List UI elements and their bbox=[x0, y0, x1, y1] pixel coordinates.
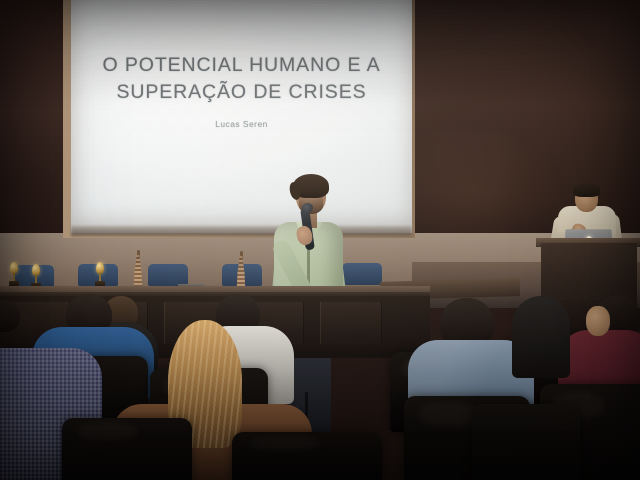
stage-chair-3 bbox=[148, 264, 188, 286]
operator-hair bbox=[573, 183, 600, 197]
stage-chair-5 bbox=[342, 263, 382, 285]
a10-shoulders bbox=[512, 296, 570, 378]
presentation-slide: O POTENCIAL HUMANO E A SUPERAÇÃO DE CRIS… bbox=[71, 0, 412, 233]
audience-chair-1 bbox=[62, 418, 192, 480]
a9-hand-on-face bbox=[586, 306, 610, 336]
slide-title-line-1: O POTENCIAL HUMANO E A bbox=[87, 52, 397, 79]
slide-title-line-2: SUPERAÇÃO DE CRISES bbox=[87, 79, 397, 106]
audience-chair-4 bbox=[232, 432, 382, 480]
slide-author: Lucas Seren bbox=[215, 119, 268, 129]
screenshot-canvas: O POTENCIAL HUMANO E A SUPERAÇÃO DE CRIS… bbox=[0, 0, 640, 480]
audience-chair-9 bbox=[472, 404, 580, 480]
slide-title: O POTENCIAL HUMANO E A SUPERAÇÃO DE CRIS… bbox=[87, 52, 397, 106]
